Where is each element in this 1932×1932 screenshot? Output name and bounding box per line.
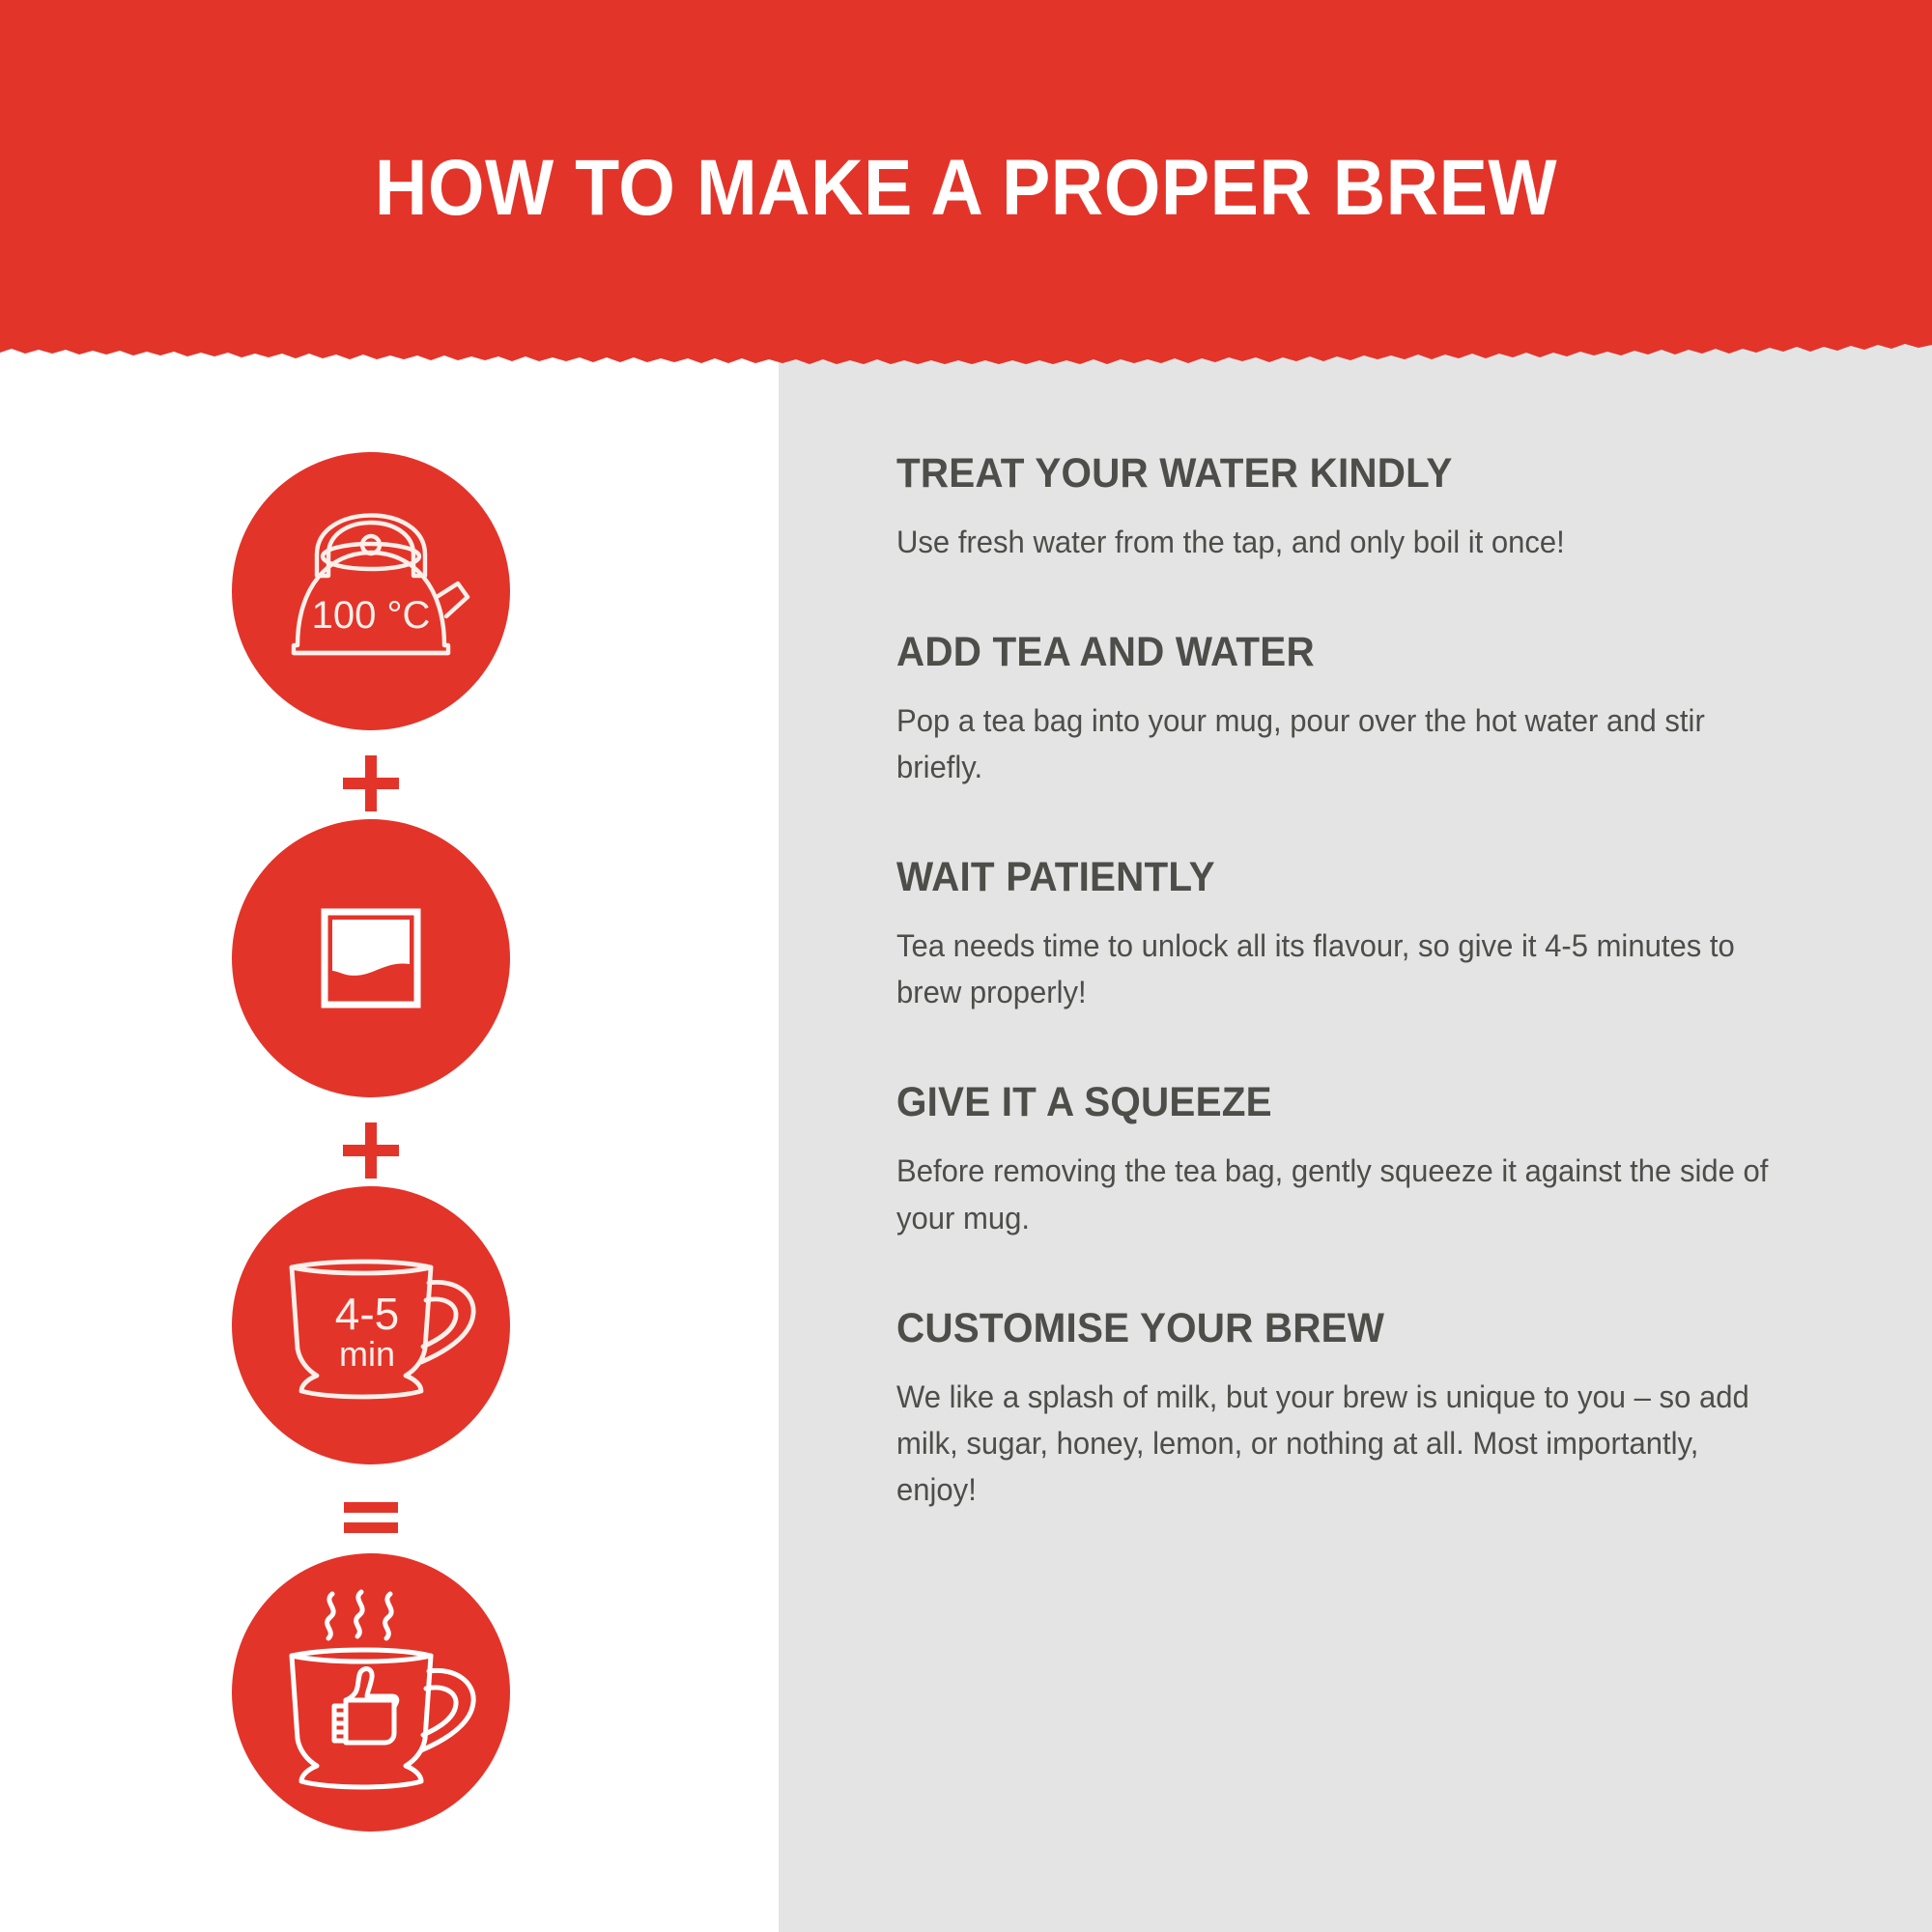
step-body: Use fresh water from the tap, and only b… (896, 519, 1782, 565)
step-item: TREAT YOUR WATER KINDLY Use fresh water … (896, 450, 1853, 565)
steaming-mug-thumbs-up-icon (232, 1553, 510, 1832)
tea-bag-icon-circle (232, 819, 510, 1097)
step-body: Before removing the tea bag, gently sque… (896, 1148, 1782, 1240)
step-heading: GIVE IT A SQUEEZE (896, 1079, 1796, 1126)
cup-timer-icon-circle: 4-5 min (232, 1186, 510, 1464)
steaming-mug-thumbs-up-icon-circle (232, 1553, 510, 1832)
cup-duration-value: 4-5 (335, 1289, 399, 1339)
step-body: Tea needs time to unlock all its flavour… (896, 923, 1782, 1015)
step-item: ADD TEA AND WATER Pop a tea bag into you… (896, 629, 1853, 790)
cup-duration-unit: min (339, 1334, 395, 1374)
kettle-icon-circle: 100 °C (232, 452, 510, 730)
tea-bag-icon (232, 819, 510, 1097)
steps-text-column: TREAT YOUR WATER KINDLY Use fresh water … (896, 450, 1853, 1513)
step-heading: WAIT PATIENTLY (896, 854, 1796, 901)
page-title: HOW TO MAKE A PROPER BREW (77, 0, 1855, 365)
header-band: HOW TO MAKE A PROPER BREW (0, 0, 1932, 365)
step-item: GIVE IT A SQUEEZE Before removing the te… (896, 1079, 1853, 1240)
plus-operator (337, 1117, 405, 1184)
equals-icon (337, 1484, 405, 1551)
step-heading: ADD TEA AND WATER (896, 629, 1796, 676)
step-body: Pop a tea bag into your mug, pour over t… (896, 697, 1782, 790)
plus-icon (337, 750, 405, 817)
kettle-temperature-label: 100 °C (312, 594, 431, 637)
kettle-icon: 100 °C (232, 452, 510, 730)
plus-icon (337, 1117, 405, 1184)
plus-operator (337, 750, 405, 817)
step-body: We like a splash of milk, but your brew … (896, 1374, 1782, 1513)
cup-timer-icon: 4-5 min (232, 1186, 510, 1464)
step-heading: CUSTOMISE YOUR BREW (896, 1305, 1796, 1352)
icon-sequence-column: 100 °C (0, 365, 779, 1932)
equals-operator (337, 1484, 405, 1551)
infographic-poster: HOW TO MAKE A PROPER BREW (0, 0, 1932, 1932)
step-item: WAIT PATIENTLY Tea needs time to unlock … (896, 854, 1853, 1015)
step-item: CUSTOMISE YOUR BREW We like a splash of … (896, 1305, 1853, 1513)
step-heading: TREAT YOUR WATER KINDLY (896, 450, 1796, 497)
